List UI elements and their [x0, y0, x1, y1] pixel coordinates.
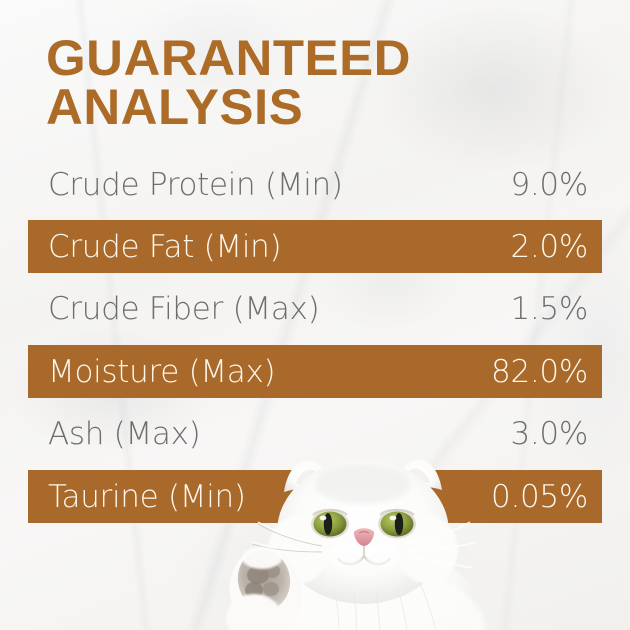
page-title: GUARANTEED ANALYSIS: [46, 34, 411, 132]
row-value: 1.5%: [510, 291, 588, 327]
row-label: Crude Fiber (Max): [48, 291, 319, 327]
row-value: 82.0%: [491, 354, 588, 390]
row-value: 2.0%: [510, 229, 588, 265]
table-row: Crude Fiber (Max)1.5%: [28, 283, 602, 336]
row-value: 0.05%: [491, 479, 588, 515]
table-row: Crude Protein (Min)9.0%: [28, 158, 602, 211]
table-row: Ash (Max)3.0%: [28, 408, 602, 461]
table-row: Crude Fat (Min)2.0%: [28, 220, 602, 273]
row-label: Ash (Max): [48, 416, 200, 452]
row-value: 9.0%: [510, 167, 588, 203]
row-label: Moisture (Max): [48, 354, 275, 390]
row-label: Crude Fat (Min): [48, 229, 281, 265]
table-row: Taurine (Min)0.05%: [28, 470, 602, 523]
row-label: Taurine (Min): [48, 479, 246, 515]
row-label: Crude Protein (Min): [48, 167, 343, 203]
guaranteed-analysis-card: GUARANTEED ANALYSIS Crude Protein (Min)9…: [0, 0, 630, 630]
row-value: 3.0%: [510, 416, 588, 452]
table-row: Moisture (Max)82.0%: [28, 345, 602, 398]
